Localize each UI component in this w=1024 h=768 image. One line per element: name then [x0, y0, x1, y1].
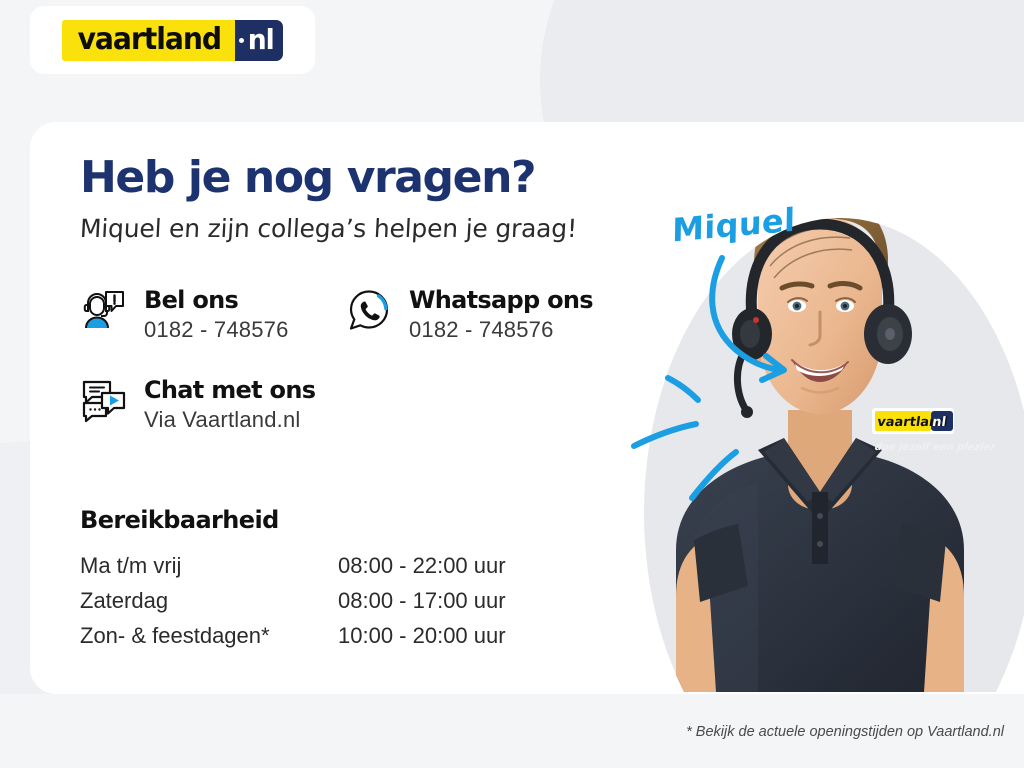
- contact-block-whatsapp[interactable]: Whatsapp ons 0182 - 748576: [345, 286, 593, 343]
- availability-time: 08:00 - 17:00 uur: [338, 588, 506, 614]
- headset-person-icon: [80, 286, 128, 334]
- table-row: Ma t/m vrij 08:00 - 22:00 uur: [80, 548, 506, 583]
- brand-logo[interactable]: vaartland nl: [30, 6, 315, 74]
- contact-block-call[interactable]: Bel ons 0182 - 748576: [80, 286, 289, 343]
- logo-navy-block: nl: [235, 20, 284, 61]
- whatsapp-icon: [345, 286, 393, 334]
- contact-title-whatsapp: Whatsapp ons: [409, 287, 593, 314]
- availability-day: Ma t/m vrij: [80, 553, 338, 579]
- page-subtitle: Miquel en zijn collega’s helpen je graag…: [79, 214, 577, 243]
- table-row: Zaterdag 08:00 - 17:00 uur: [80, 583, 506, 618]
- page-title: Heb je nog vragen?: [80, 152, 535, 203]
- table-row: Zon- & feestdagen* 10:00 - 20:00 uur: [80, 618, 506, 653]
- curved-arrow-icon: [712, 258, 784, 380]
- footnote: * Bekijk de actuele openingstijden op Va…: [0, 724, 1004, 740]
- availability-day: Zaterdag: [80, 588, 338, 614]
- svg-text:doe jezelf een plezier: doe jezelf een plezier: [874, 442, 997, 453]
- svg-text:nl: nl: [931, 415, 947, 430]
- polo-chest-logo: vaartland nl doe jezelf een plezier: [872, 408, 997, 453]
- contact-block-chat[interactable]: Chat met ons Via Vaartland.nl: [80, 376, 315, 433]
- availability-title: Bereikbaarheid: [80, 506, 279, 534]
- availability-time: 10:00 - 20:00 uur: [338, 623, 506, 649]
- contact-banner: vaartland nl Heb je nog vragen? Miquel e…: [0, 0, 1024, 768]
- logo-lockup: vaartland nl: [62, 20, 283, 61]
- availability-time: 08:00 - 22:00 uur: [338, 553, 506, 579]
- availability-table: Ma t/m vrij 08:00 - 22:00 uur Zaterdag 0…: [80, 548, 506, 653]
- contact-value-call[interactable]: 0182 - 748576: [144, 317, 289, 343]
- chat-bubbles-icon: [80, 376, 128, 424]
- logo-yellow-block: vaartland: [62, 20, 235, 61]
- logo-tld: nl: [247, 26, 273, 54]
- contact-value-whatsapp[interactable]: 0182 - 748576: [409, 317, 593, 343]
- motion-lines-icon: [634, 378, 736, 498]
- contact-value-chat[interactable]: Via Vaartland.nl: [144, 407, 315, 433]
- contact-text-whatsapp: Whatsapp ons 0182 - 748576: [409, 286, 593, 343]
- contact-text-chat: Chat met ons Via Vaartland.nl: [144, 376, 315, 433]
- contact-text-call: Bel ons 0182 - 748576: [144, 286, 289, 343]
- logo-wordmark: vaartland: [77, 25, 220, 55]
- contact-title-chat: Chat met ons: [144, 377, 315, 404]
- contact-title-call: Bel ons: [144, 287, 289, 314]
- availability-day: Zon- & feestdagen*: [80, 623, 338, 649]
- dot-icon: [239, 38, 244, 43]
- annotation-graphics: [620, 240, 810, 510]
